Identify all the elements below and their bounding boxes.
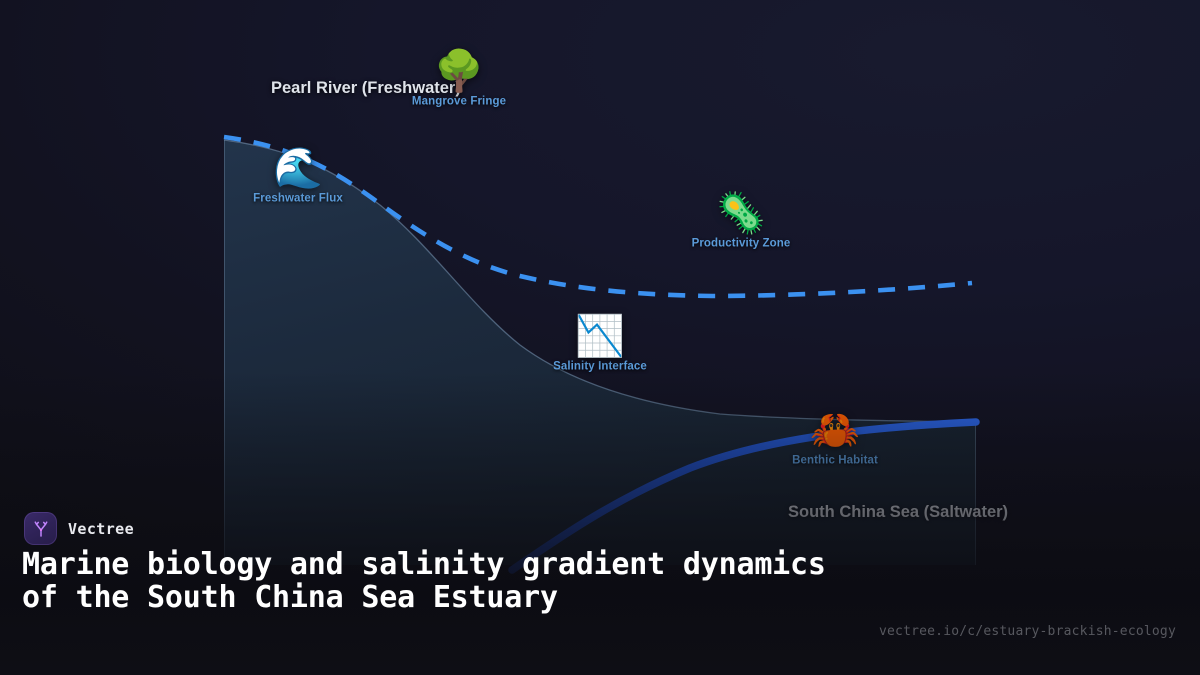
node-freshwater-flux[interactable]: 🌊 Freshwater Flux xyxy=(253,146,343,205)
node-productivity-zone[interactable]: 🦠 Productivity Zone xyxy=(692,191,791,250)
water-wave-icon: 🌊 xyxy=(253,146,343,192)
node-label-freshwater-flux: Freshwater Flux xyxy=(253,193,343,205)
crab-icon: 🦀 xyxy=(792,408,878,454)
node-label-productivity-zone: Productivity Zone xyxy=(692,238,791,250)
deciduous-tree-icon: 🌳 xyxy=(412,49,506,95)
microbe-icon: 🦠 xyxy=(692,191,791,237)
vectree-v-tree-icon xyxy=(24,512,57,545)
brand-lockup[interactable]: Vectree xyxy=(24,512,134,545)
page-title: Marine biology and salinity gradient dyn… xyxy=(22,549,842,614)
node-mangrove-fringe[interactable]: 🌳 Mangrove Fringe xyxy=(412,49,506,108)
brand-name: Vectree xyxy=(68,520,134,538)
node-benthic-habitat[interactable]: 🦀 Benthic Habitat xyxy=(792,408,878,467)
node-label-benthic-habitat: Benthic Habitat xyxy=(792,455,878,467)
node-salinity-interface[interactable]: 📉 Salinity Interface xyxy=(553,314,647,373)
source-url: vectree.io/c/estuary-brackish-ecology xyxy=(879,624,1176,639)
node-label-mangrove-fringe: Mangrove Fringe xyxy=(412,96,506,108)
region-label-saltwater: South China Sea (Saltwater) xyxy=(788,503,1008,522)
chart-decreasing-icon: 📉 xyxy=(553,314,647,360)
node-label-salinity-interface: Salinity Interface xyxy=(553,361,647,373)
